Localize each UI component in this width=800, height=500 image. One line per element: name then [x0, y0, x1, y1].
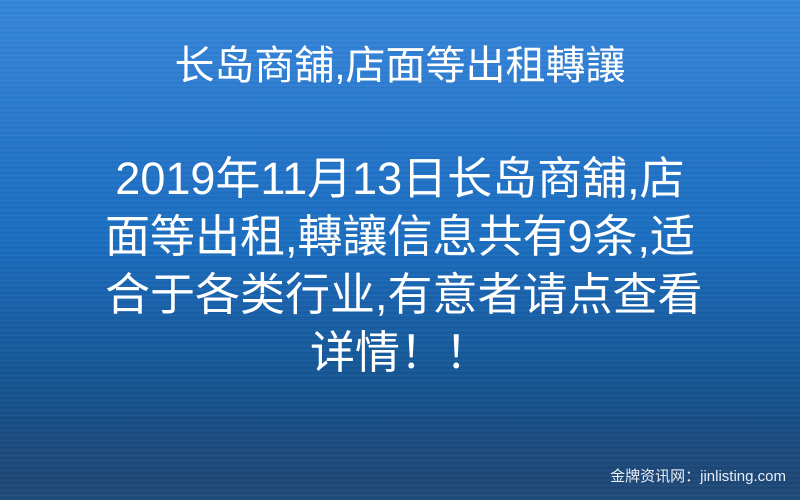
poster-canvas: 长岛商舖,店面等出租轉讓 2019年11月13日长岛商舖,店 面等出租,轉讓信息… [0, 0, 800, 500]
body-line: 详情！！ [105, 324, 695, 382]
body-line: 2019年11月13日长岛商舖,店 [105, 150, 695, 208]
body-line: 面等出租,轉讓信息共有9条,适 [105, 208, 695, 266]
poster-content: 长岛商舖,店面等出租轉讓 2019年11月13日长岛商舖,店 面等出租,轉讓信息… [0, 0, 800, 500]
page-title: 长岛商舖,店面等出租轉讓 [0, 40, 800, 92]
site-watermark: 金牌资讯网：jinlisting.com [610, 468, 786, 486]
body-line: 合于各类行业,有意者请点查看 [105, 266, 695, 324]
body-text-block: 2019年11月13日长岛商舖,店 面等出租,轉讓信息共有9条,适 合于各类行业… [105, 150, 695, 382]
